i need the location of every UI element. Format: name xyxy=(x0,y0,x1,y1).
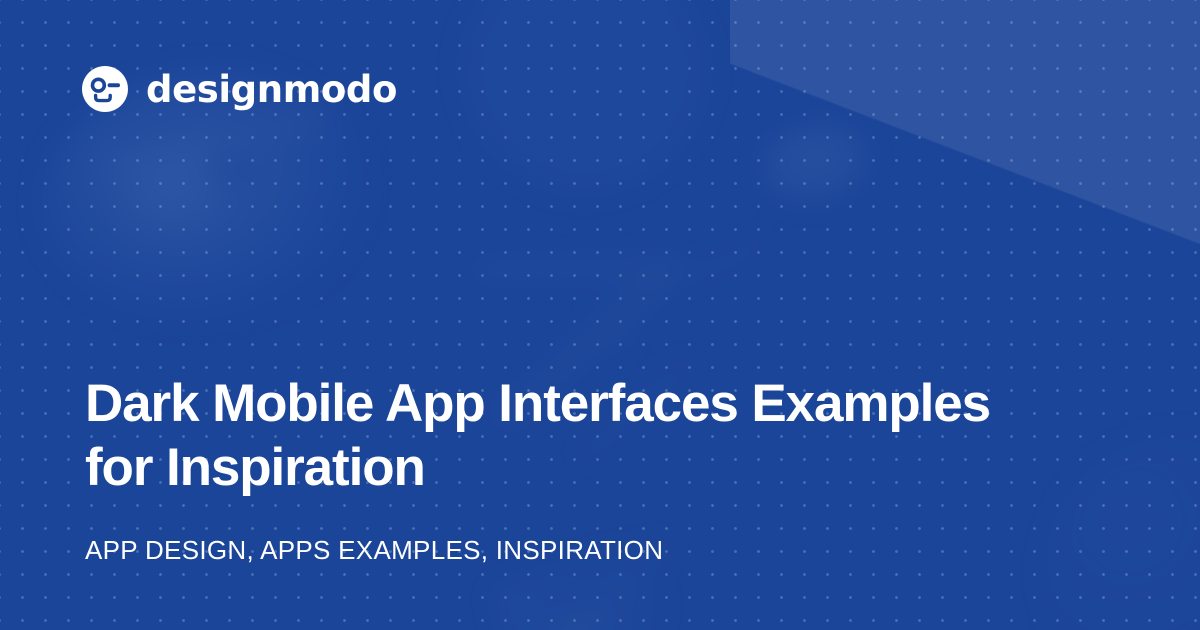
page-title-line-2: for Inspiration xyxy=(85,438,425,497)
brand-wordmark: designmodo xyxy=(146,71,397,108)
brand-logo[interactable]: designmodo xyxy=(82,66,397,112)
article-share-card: THE DIRECTORY Apologize Apologize Apolog… xyxy=(0,0,1200,630)
article-text-block: Dark Mobile App Interfaces Examples for … xyxy=(85,372,1075,566)
article-categories: APP DESIGN, APPS EXAMPLES, INSPIRATION xyxy=(85,535,1075,566)
page-title: Dark Mobile App Interfaces Examples for … xyxy=(85,372,1075,500)
designmodo-face-icon xyxy=(82,66,128,112)
page-title-line-1: Dark Mobile App Interfaces Examples xyxy=(85,374,990,433)
